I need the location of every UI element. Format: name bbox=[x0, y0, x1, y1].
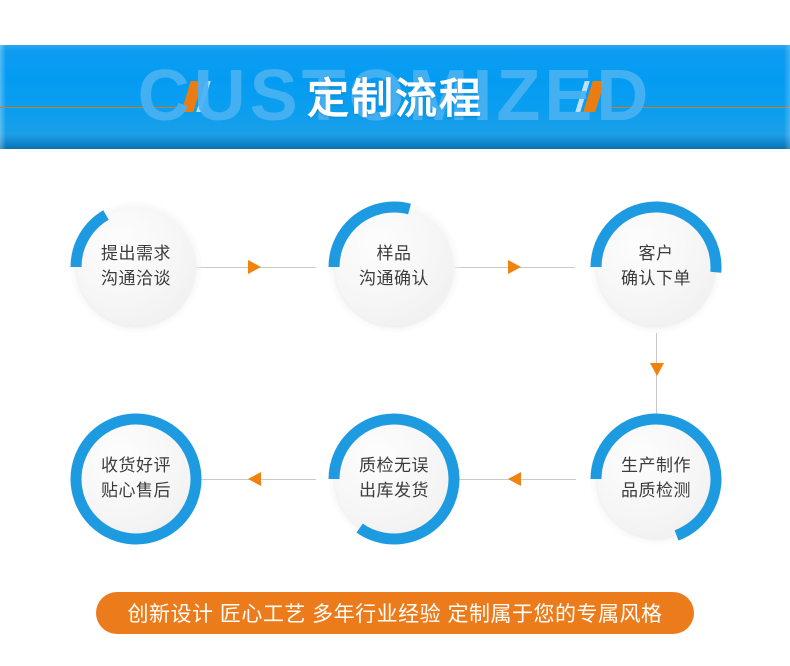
flow-step-line2: 沟通洽谈 bbox=[101, 267, 171, 292]
flow-step-line1: 质检无误 bbox=[359, 454, 429, 479]
flow-step-caption: 生产制作 品质检测 bbox=[590, 413, 722, 545]
flow-step-1[interactable]: 提出需求 沟通洽谈 bbox=[70, 201, 202, 333]
flow-step-caption: 提出需求 沟通洽谈 bbox=[70, 201, 202, 333]
flow-step-caption: 收货好评 贴心售后 bbox=[70, 413, 202, 545]
flow-step-6[interactable]: 收货好评 贴心售后 bbox=[70, 413, 202, 545]
arrow-right-icon bbox=[508, 260, 521, 274]
flow-step-3[interactable]: 客户 确认下单 bbox=[590, 201, 722, 333]
flow-step-line1: 提出需求 bbox=[101, 242, 171, 267]
arrow-down-icon bbox=[650, 363, 664, 376]
flow-step-line2: 沟通确认 bbox=[359, 267, 429, 292]
footer-tagline-banner: 创新设计 匠心工艺 多年行业经验 定制属于您的专属风格 bbox=[96, 592, 694, 634]
arrow-left-icon bbox=[248, 472, 261, 486]
flow-step-line1: 样品 bbox=[377, 242, 412, 267]
header-banner: CUSTOMIZED 定制流程 bbox=[0, 45, 790, 149]
flow-step-line1: 收货好评 bbox=[101, 454, 171, 479]
process-flow-diagram: 提出需求 沟通洽谈 样品 沟通确认 客户 确认下单 bbox=[0, 149, 790, 579]
footer-tagline-text: 创新设计 匠心工艺 多年行业经验 定制属于您的专属风格 bbox=[127, 598, 662, 628]
flow-step-line1: 生产制作 bbox=[621, 454, 691, 479]
flow-step-line1: 客户 bbox=[639, 242, 674, 267]
flow-step-5[interactable]: 质检无误 出库发货 bbox=[328, 413, 460, 545]
flow-step-4[interactable]: 生产制作 品质检测 bbox=[590, 413, 722, 545]
flow-step-line2: 贴心售后 bbox=[101, 479, 171, 504]
arrow-left-icon bbox=[508, 472, 521, 486]
flow-step-line2: 品质检测 bbox=[621, 479, 691, 504]
flow-step-line2: 出库发货 bbox=[359, 479, 429, 504]
flow-step-line2: 确认下单 bbox=[621, 267, 691, 292]
flow-step-2[interactable]: 样品 沟通确认 bbox=[328, 201, 460, 333]
flow-step-caption: 样品 沟通确认 bbox=[328, 201, 460, 333]
flow-step-caption: 客户 确认下单 bbox=[590, 201, 722, 333]
page-title: 定制流程 bbox=[0, 76, 790, 122]
flow-step-caption: 质检无误 出库发货 bbox=[328, 413, 460, 545]
arrow-right-icon bbox=[248, 260, 261, 274]
